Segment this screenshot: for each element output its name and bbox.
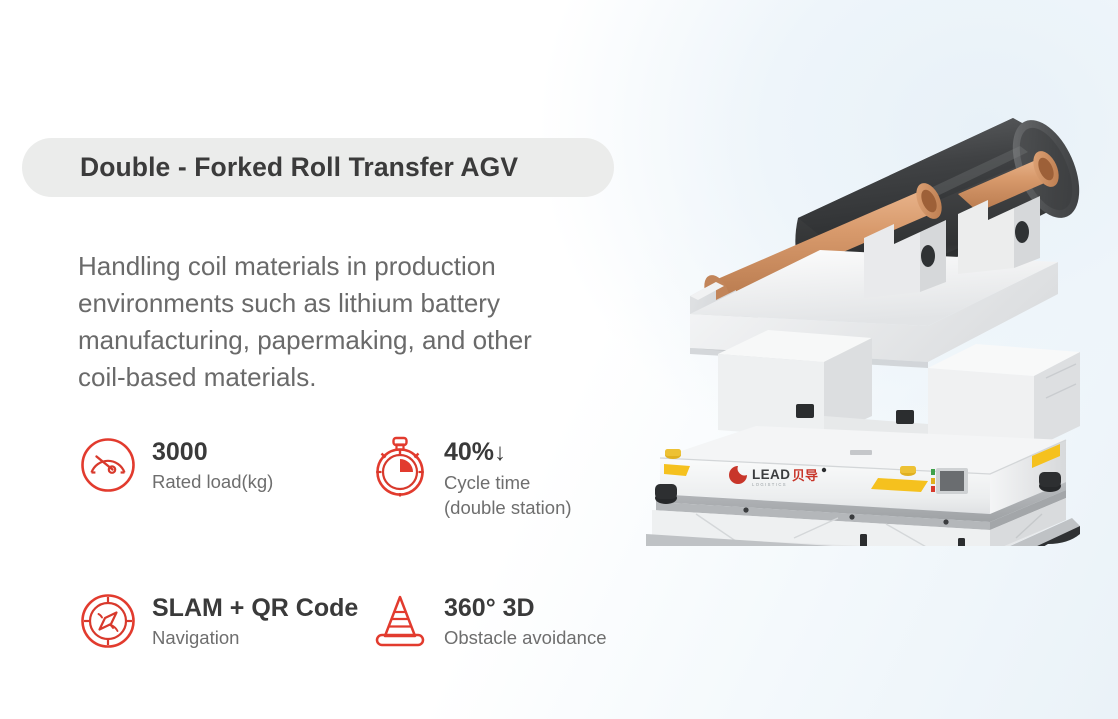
svg-text:LOGISTICS: LOGISTICS	[752, 482, 787, 487]
spec-label-secondary: (double station)	[444, 495, 572, 520]
spec-value-number: 40%	[444, 438, 494, 466]
down-arrow-icon: ↓	[494, 439, 506, 466]
svg-text:贝导: 贝导	[792, 469, 818, 484]
traffic-cone-icon	[370, 592, 430, 654]
title-pill: Double - Forked Roll Transfer AGV	[22, 138, 614, 197]
spec-text-cycle-time: 40%↓ Cycle time (double station)	[444, 436, 572, 520]
compass-icon	[78, 592, 138, 654]
description-line-4: coil-based materials.	[78, 359, 648, 396]
corner-marker-yellow-left	[664, 464, 690, 476]
spec-value: SLAM + QR Code	[152, 594, 358, 622]
spec-text-rated-load: 3000 Rated load(kg)	[152, 436, 273, 494]
spec-row-2: SLAM + QR Code Navigation 360° 3D	[78, 592, 658, 654]
product-description: Handling coil materials in production en…	[78, 248, 648, 396]
page-title: Double - Forked Roll Transfer AGV	[80, 152, 518, 183]
spec-label: Obstacle avoidance	[444, 625, 607, 650]
stopwatch-icon	[370, 436, 430, 498]
spec-label: Rated load(kg)	[152, 469, 273, 494]
spec-text-navigation: SLAM + QR Code Navigation	[152, 592, 358, 650]
spec-row-1: 3000 Rated load(kg)	[78, 436, 658, 520]
spec-item-cycle-time: 40%↓ Cycle time (double station)	[370, 436, 658, 520]
description-line-3: manufacturing, papermaking, and other	[78, 322, 648, 359]
svg-text:LEAD: LEAD	[752, 467, 790, 482]
spec-text-obstacle-avoidance: 360° 3D Obstacle avoidance	[444, 592, 607, 650]
description-line-2: environments such as lithium battery	[78, 285, 648, 322]
product-image-agv: LEAD 贝导 LOGISTICS	[628, 86, 1118, 546]
spec-grid: 3000 Rated load(kg)	[78, 436, 658, 654]
product-slide: Double - Forked Roll Transfer AGV Handli…	[0, 0, 1118, 719]
description-line-1: Handling coil materials in production	[78, 248, 648, 285]
spec-value: 360° 3D	[444, 594, 607, 622]
spec-value: 3000	[152, 438, 273, 466]
spec-label: Cycle time	[444, 470, 572, 495]
spec-label: Navigation	[152, 625, 358, 650]
spec-item-obstacle-avoidance: 360° 3D Obstacle avoidance	[370, 592, 658, 654]
gauge-icon	[78, 436, 138, 498]
spec-item-rated-load: 3000 Rated load(kg)	[78, 436, 370, 498]
spec-item-navigation: SLAM + QR Code Navigation	[78, 592, 370, 654]
spec-value: 40%↓	[444, 438, 572, 467]
